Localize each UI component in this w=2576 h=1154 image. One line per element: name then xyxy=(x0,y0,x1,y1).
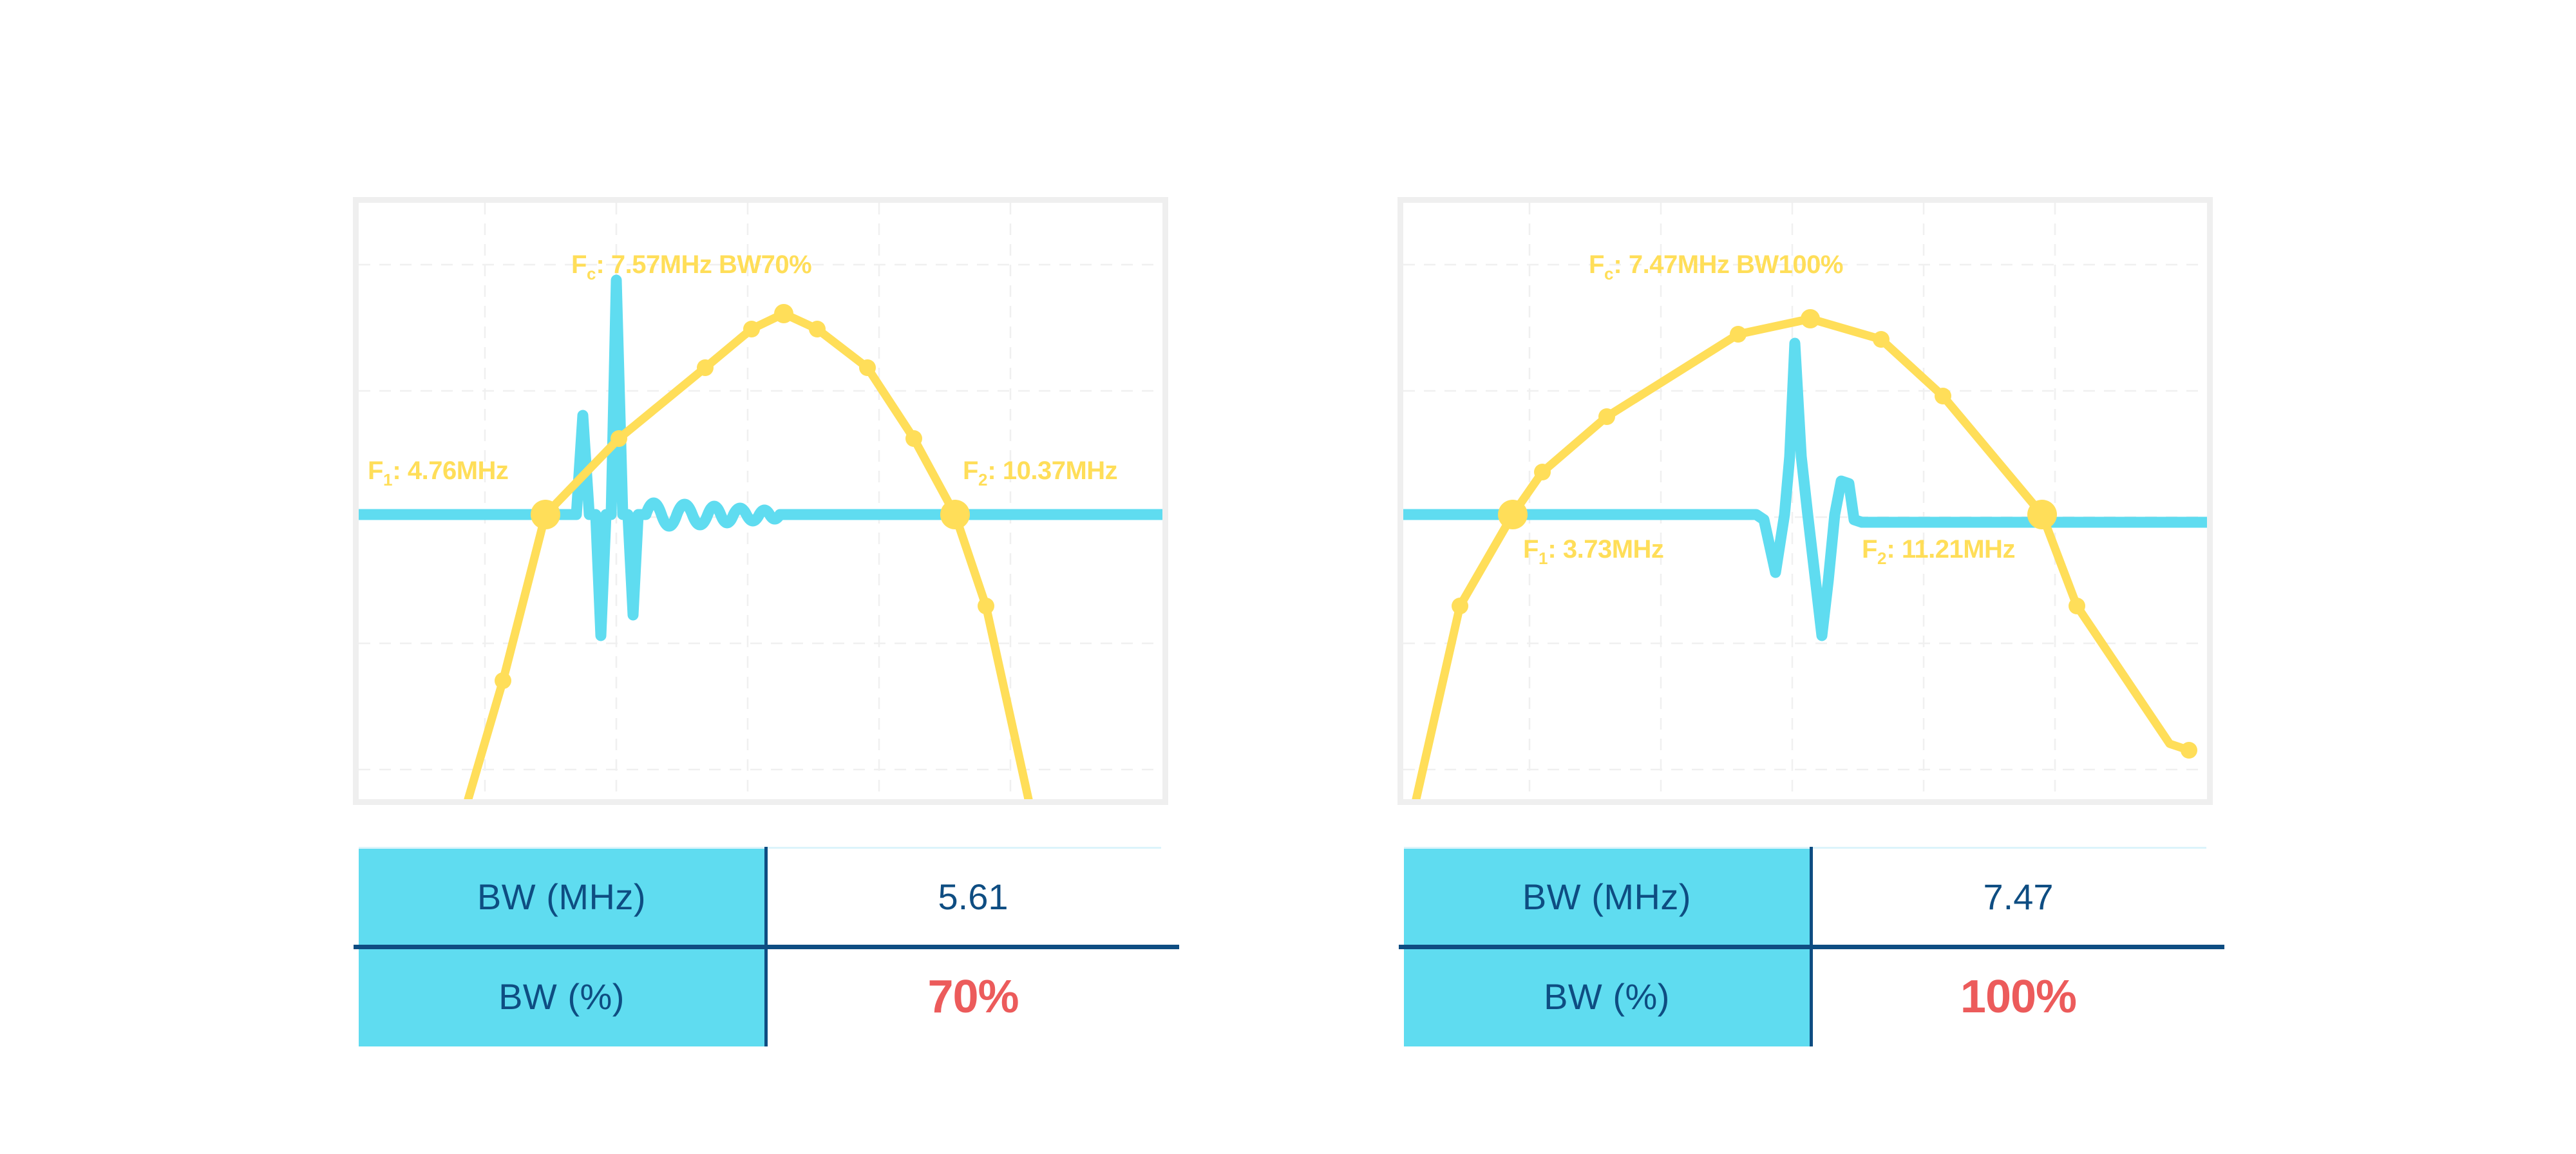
label-f1: F1: 3.73MHz xyxy=(1523,536,1663,562)
row-label-bw-mhz: BW (MHz) xyxy=(359,847,764,947)
label-f1-subscript: 1 xyxy=(1539,549,1548,568)
label-f2-subscript: 2 xyxy=(978,470,987,489)
spectrum-chart-100: Fc: 7.47MHz BW100% F1: 3.73MHz F2: 11.21… xyxy=(1397,197,2213,805)
table-row: BW (%) 70% xyxy=(359,947,1182,1046)
spectrum-chart-100-svg xyxy=(1403,203,2207,799)
label-f2-prefix: F xyxy=(1862,535,1877,563)
table-top-rule xyxy=(359,847,1161,849)
label-fc-text: : 7.57MHz BW70% xyxy=(596,251,811,279)
marker-f1 xyxy=(1498,500,1528,529)
label-fc-subscript: c xyxy=(1604,264,1613,283)
row-label-bw-pct: BW (%) xyxy=(1404,947,1810,1046)
table-row: BW (MHz) 7.47 xyxy=(1404,847,2227,947)
marker-f2 xyxy=(940,500,970,529)
spectrum-data-points xyxy=(495,304,994,689)
marker-f2 xyxy=(2027,500,2057,529)
grid-lines xyxy=(359,203,1162,799)
label-f1: F1: 4.76MHz xyxy=(368,458,508,484)
bandwidth-table-70: BW (MHz) 5.61 BW (%) 70% xyxy=(359,847,1182,1046)
bandwidth-panel-70: Fc: 7.57MHz BW70% F1: 4.76MHz F2: 10.37M… xyxy=(0,0,1288,1154)
label-f2-text: : 10.37MHz xyxy=(987,457,1117,485)
label-f2-text: : 11.21MHz xyxy=(1886,535,2015,563)
figure-root: Fc: 7.57MHz BW70% F1: 4.76MHz F2: 10.37M… xyxy=(0,0,2576,1154)
label-f1-prefix: F xyxy=(368,457,383,485)
label-f1-prefix: F xyxy=(1523,535,1539,563)
label-f2-prefix: F xyxy=(963,457,978,485)
spectrum-chart-70-svg xyxy=(359,203,1162,799)
table-vertical-rule xyxy=(1810,847,1813,1046)
label-f1-text: : 4.76MHz xyxy=(392,457,508,485)
label-f2-subscript: 2 xyxy=(1877,549,1886,568)
label-f2: F2: 10.37MHz xyxy=(963,458,1117,484)
row-value-bw-pct: 100% xyxy=(1810,947,2227,1046)
label-fc-prefix: F xyxy=(1589,251,1604,279)
waveform-trace xyxy=(1403,343,2207,636)
label-f2: F2: 11.21MHz xyxy=(1862,536,2015,562)
label-fc-text: : 7.47MHz BW100% xyxy=(1613,251,1843,279)
marker-f1 xyxy=(531,500,560,529)
spectrum-data-points xyxy=(1452,309,2197,759)
table-top-rule xyxy=(1404,847,2206,849)
label-fc-subscript: c xyxy=(587,264,596,283)
row-value-bw-mhz: 5.61 xyxy=(764,847,1182,947)
row-label-bw-mhz: BW (MHz) xyxy=(1404,847,1810,947)
label-fc-prefix: F xyxy=(571,251,587,279)
label-fc: Fc: 7.57MHz BW70% xyxy=(571,252,811,278)
row-value-bw-pct: 70% xyxy=(764,947,1182,1046)
label-f1-subscript: 1 xyxy=(383,470,392,489)
label-fc: Fc: 7.47MHz BW100% xyxy=(1589,252,1843,278)
table-vertical-rule xyxy=(764,847,768,1046)
bandwidth-table-100: BW (MHz) 7.47 BW (%) 100% xyxy=(1404,847,2227,1046)
bandwidth-panel-100: Fc: 7.47MHz BW100% F1: 3.73MHz F2: 11.21… xyxy=(1288,0,2576,1154)
row-value-bw-mhz: 7.47 xyxy=(1810,847,2227,947)
spectrum-chart-70: Fc: 7.57MHz BW70% F1: 4.76MHz F2: 10.37M… xyxy=(353,197,1168,805)
table-row: BW (%) 100% xyxy=(1404,947,2227,1046)
table-row: BW (MHz) 5.61 xyxy=(359,847,1182,947)
row-label-bw-pct: BW (%) xyxy=(359,947,764,1046)
label-f1-text: : 3.73MHz xyxy=(1548,535,1663,563)
